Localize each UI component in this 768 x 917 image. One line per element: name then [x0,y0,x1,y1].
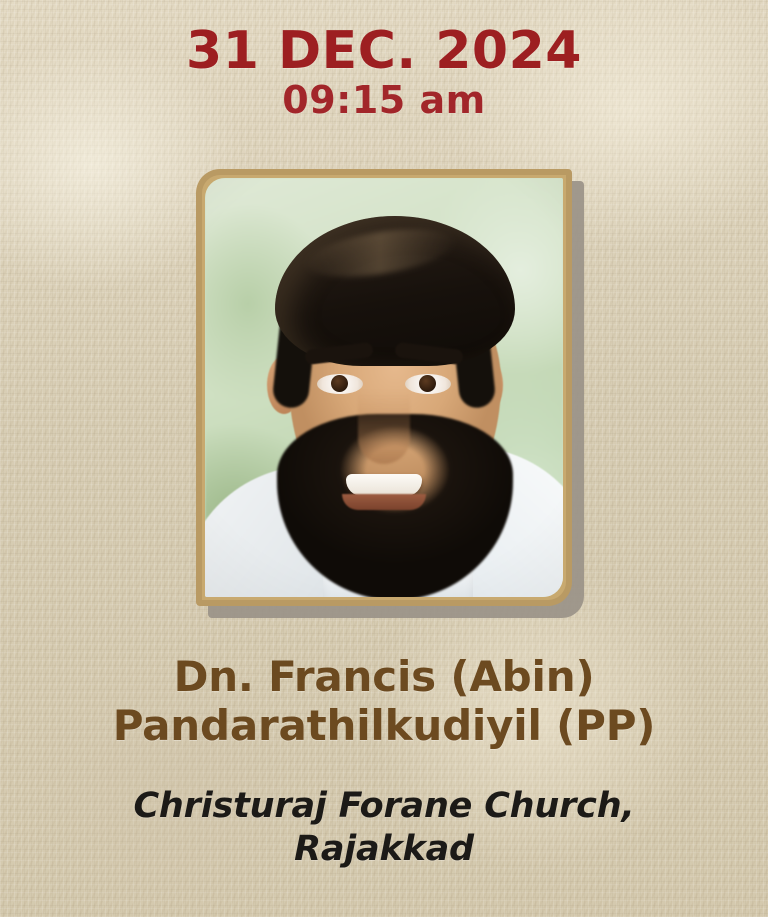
person-name-line-2: Pandarathilkudiyil (PP) [0,702,768,751]
photo-eye-left [317,374,363,394]
portrait-frame [196,169,572,606]
date-header: 31 DEC. 2024 09:15 am [0,24,768,122]
portrait-container [196,169,572,606]
photo-lower-lip [342,494,426,510]
memorial-poster: 31 DEC. 2024 09:15 am [0,0,768,917]
location-line-2: Rajakkad [0,828,768,871]
photo-eye-right [405,374,451,394]
location-line-1: Christuraj Forane Church, [0,785,768,828]
location-block: Christuraj Forane Church, Rajakkad [0,785,768,870]
event-date: 31 DEC. 2024 [0,24,768,78]
photo-teeth-smile [346,474,422,496]
person-name: Dn. Francis (Abin) Pandarathilkudiyil (P… [0,653,768,750]
portrait-photo [205,178,563,597]
person-name-line-1: Dn. Francis (Abin) [0,653,768,702]
event-time: 09:15 am [0,80,768,122]
photo-nose [358,390,410,464]
